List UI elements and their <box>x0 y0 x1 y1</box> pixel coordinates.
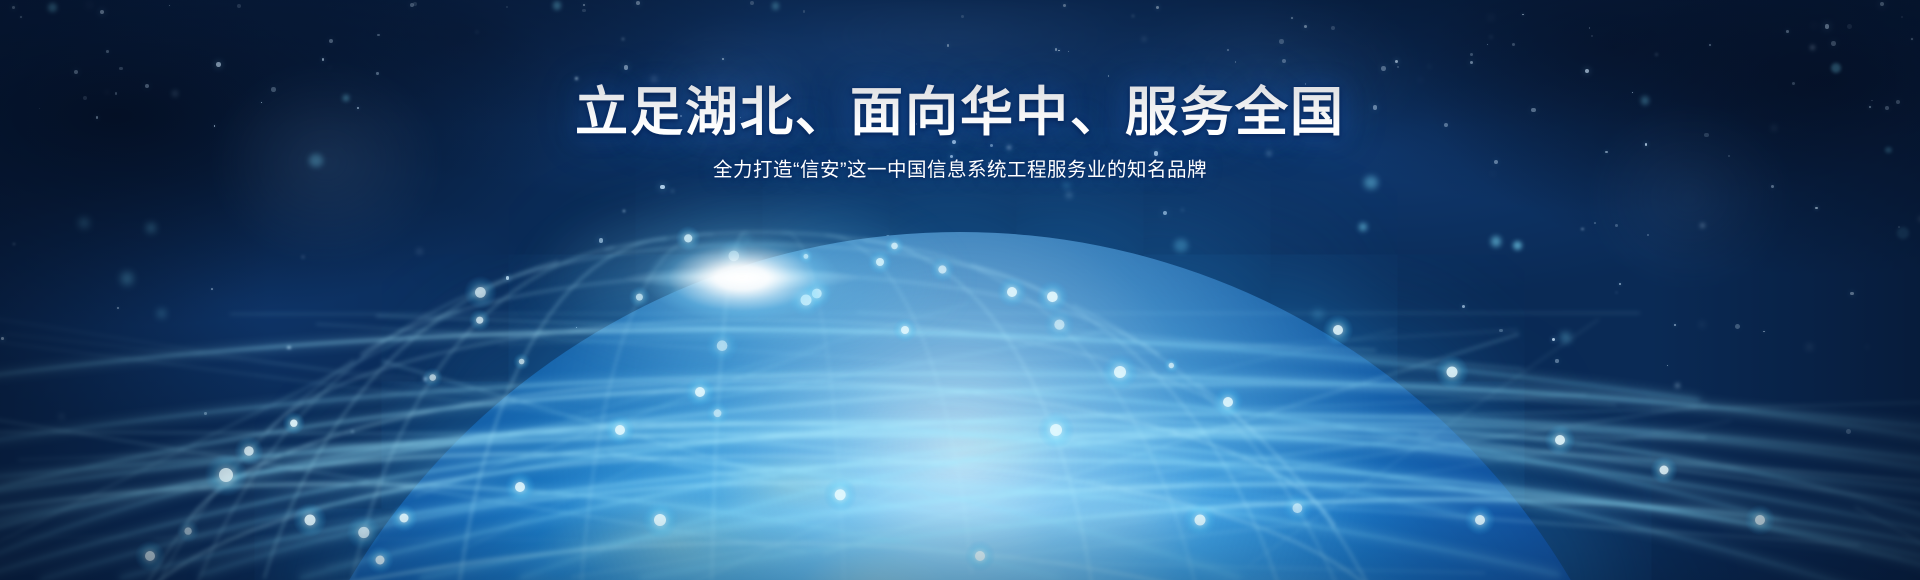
hero-subheadline: 全力打造“信安”这一中国信息系统工程服务业的知名品牌 <box>0 141 1920 184</box>
hero-banner: 立足湖北、面向华中、服务全国 全力打造“信安”这一中国信息系统工程服务业的知名品… <box>0 0 1920 580</box>
hero-headline: 立足湖北、面向华中、服务全国 <box>0 0 1920 141</box>
hero-text-block: 立足湖北、面向华中、服务全国 全力打造“信安”这一中国信息系统工程服务业的知名品… <box>0 0 1920 185</box>
